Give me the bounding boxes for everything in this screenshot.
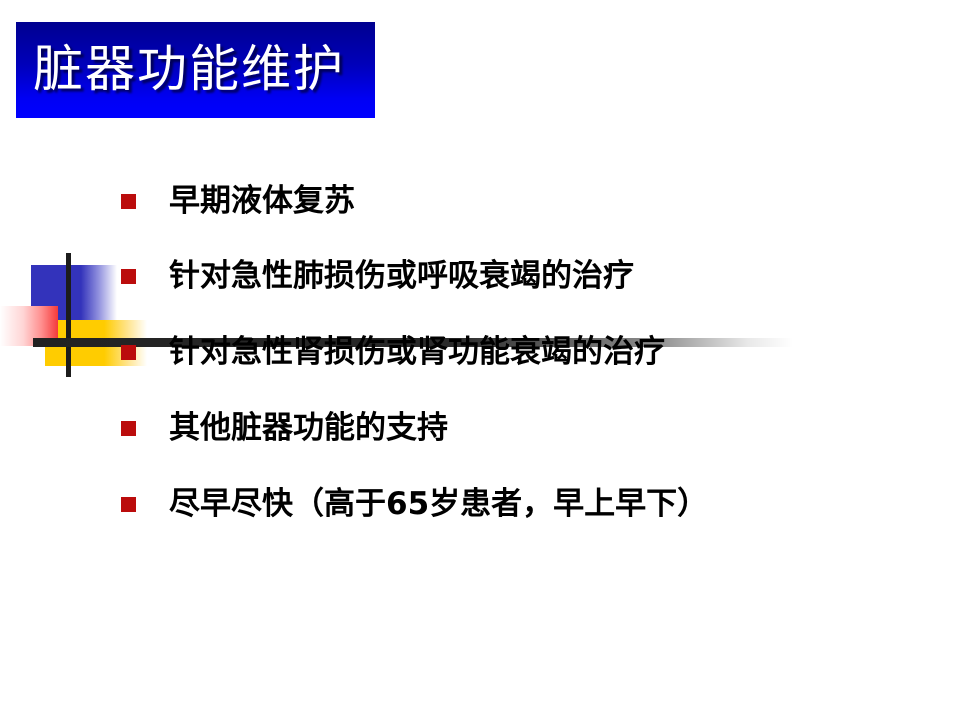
list-item: 针对急性肺损伤或呼吸衰竭的治疗 bbox=[121, 257, 634, 295]
list-item-label: 针对急性肾损伤或肾功能衰竭的治疗 bbox=[169, 333, 665, 371]
list-item-label: 尽早尽快（高于65岁患者，早上早下） bbox=[169, 485, 708, 523]
square-bullet-icon bbox=[121, 269, 136, 284]
list-item-label: 其他脏器功能的支持 bbox=[169, 409, 448, 447]
list-item: 尽早尽快（高于65岁患者，早上早下） bbox=[121, 485, 708, 523]
square-bullet-icon bbox=[121, 345, 136, 360]
presentation-slide: 脏器功能维护 早期液体复苏 针对急性肺损伤或呼吸衰竭的治疗 针对急性肾损伤或肾功… bbox=[0, 0, 960, 720]
list-item: 针对急性肾损伤或肾功能衰竭的治疗 bbox=[121, 333, 665, 371]
bullet-list: 早期液体复苏 针对急性肺损伤或呼吸衰竭的治疗 针对急性肾损伤或肾功能衰竭的治疗 … bbox=[0, 0, 960, 720]
list-item-label: 针对急性肺损伤或呼吸衰竭的治疗 bbox=[169, 257, 634, 295]
square-bullet-icon bbox=[121, 194, 136, 209]
list-item: 其他脏器功能的支持 bbox=[121, 409, 448, 447]
square-bullet-icon bbox=[121, 497, 136, 512]
list-item: 早期液体复苏 bbox=[121, 182, 355, 220]
square-bullet-icon bbox=[121, 421, 136, 436]
list-item-label: 早期液体复苏 bbox=[169, 182, 355, 220]
